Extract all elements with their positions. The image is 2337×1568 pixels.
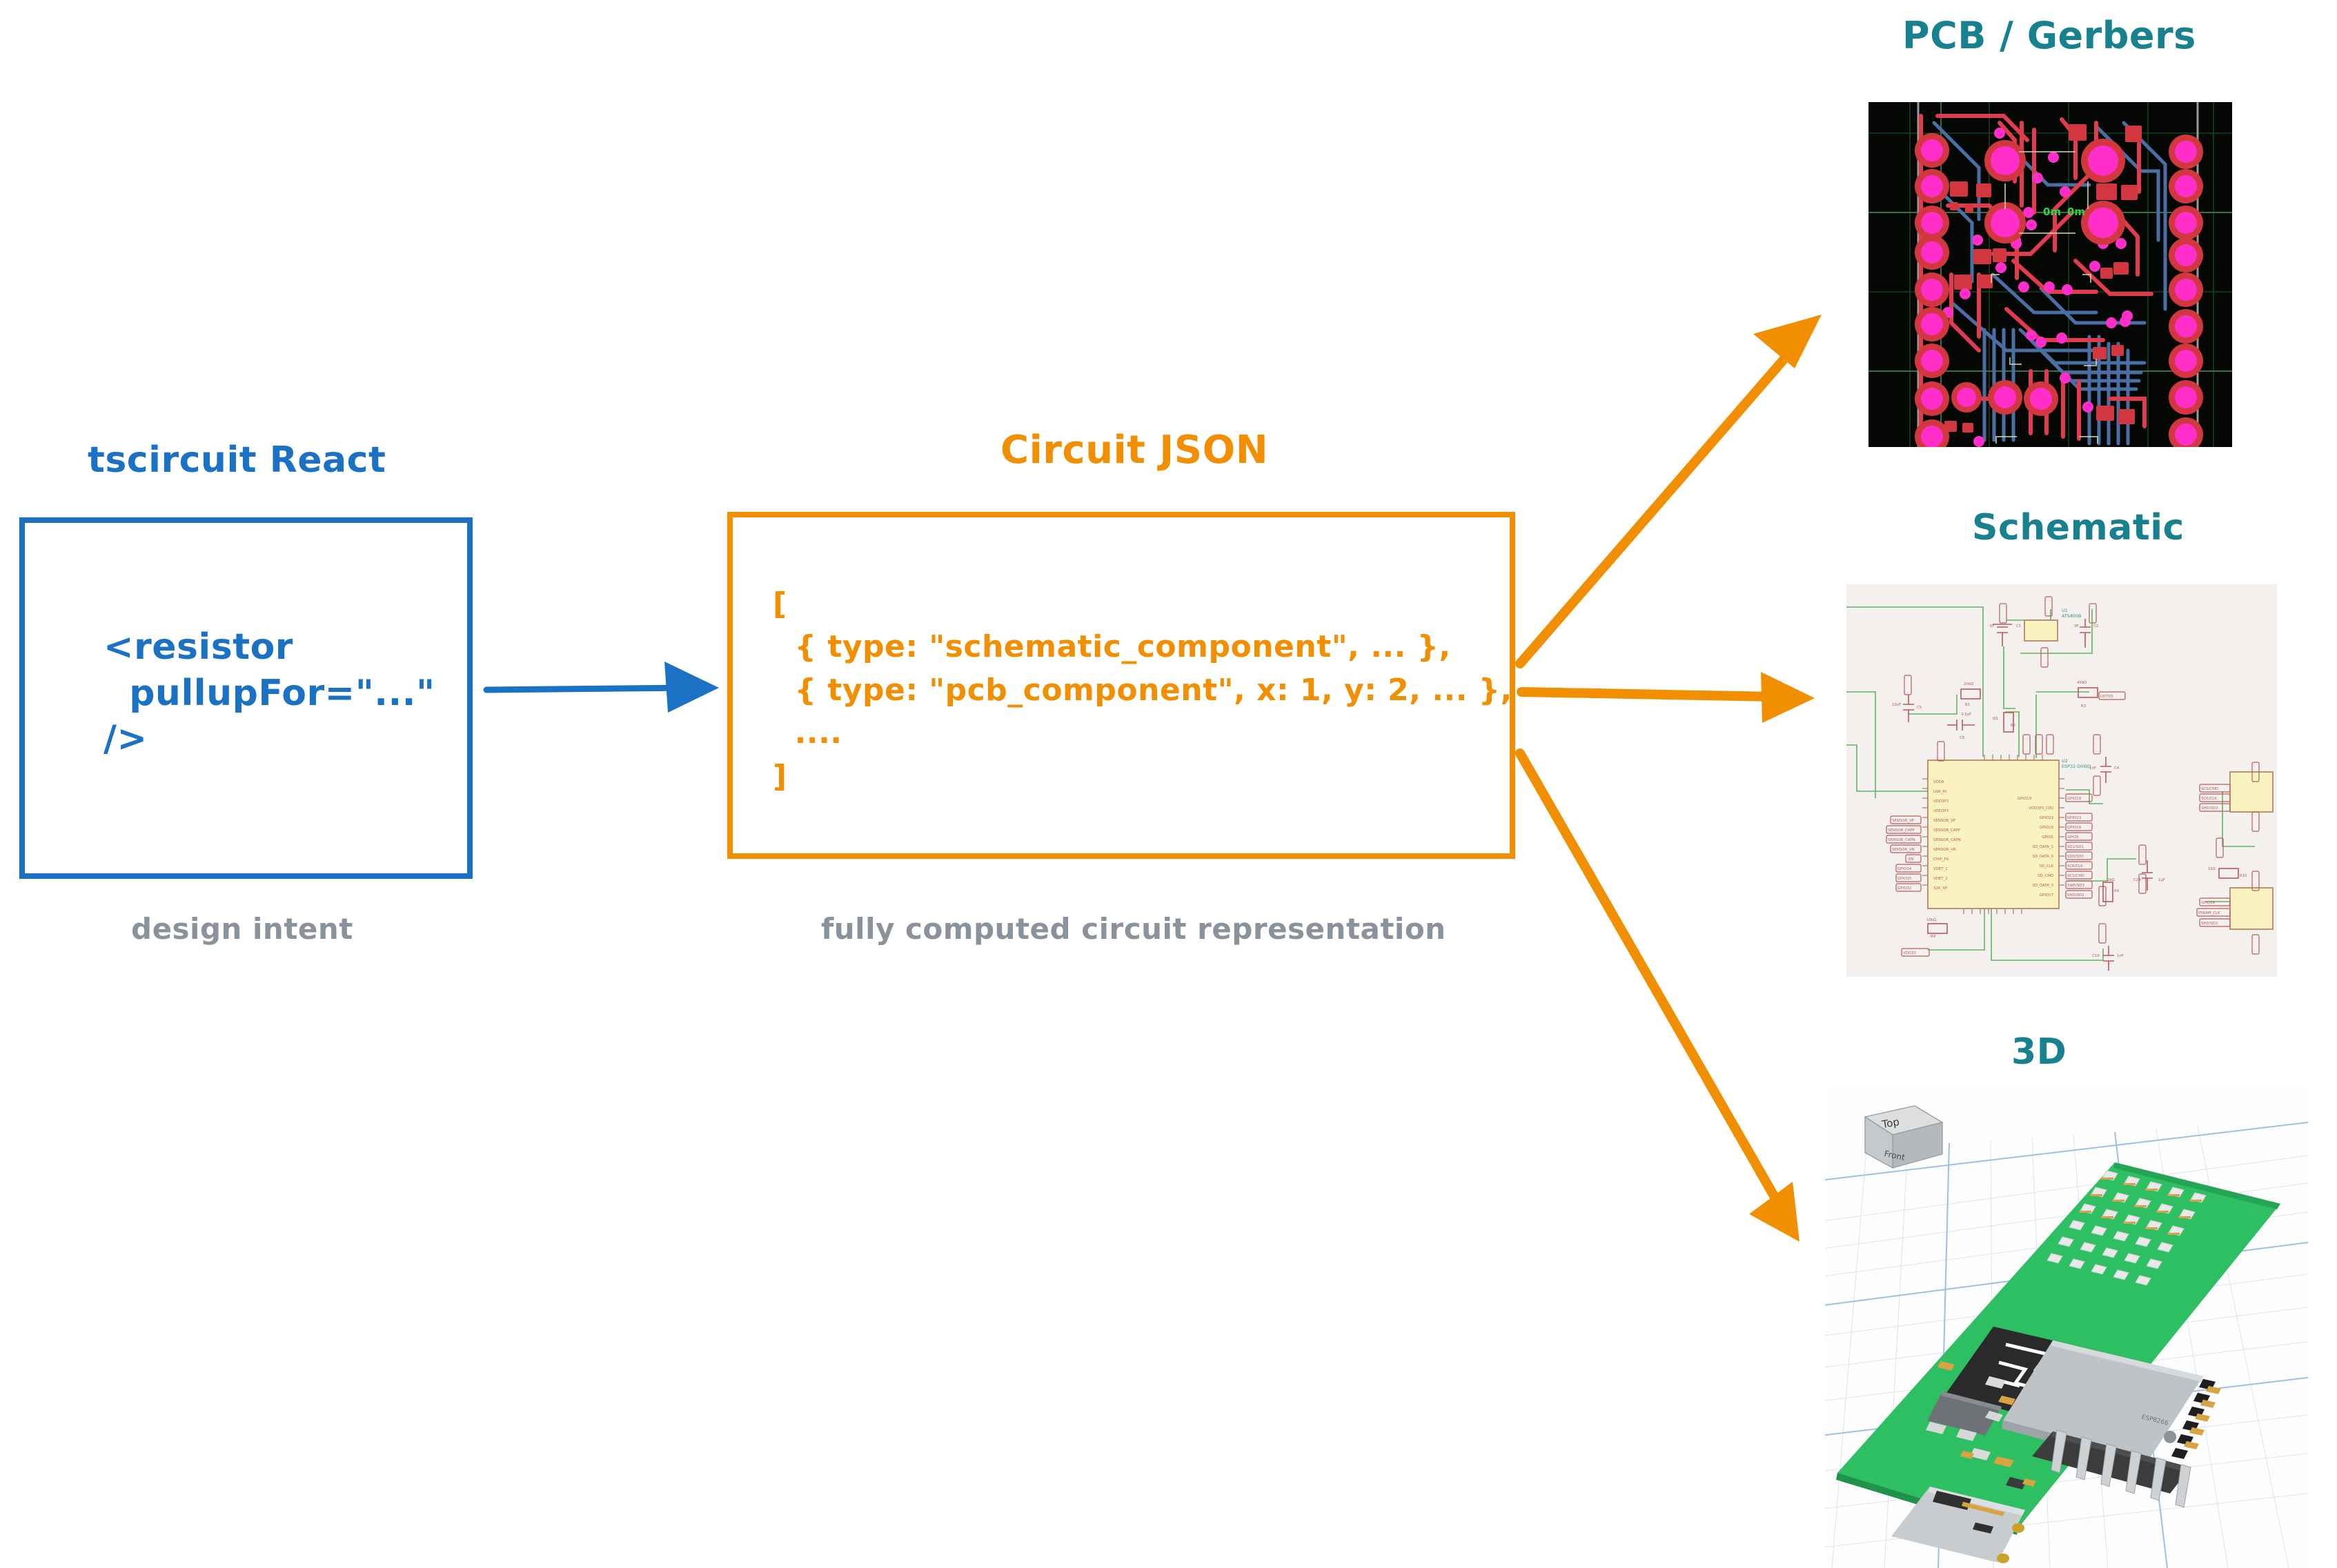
svg-text:VDET_2: VDET_2 — [1933, 877, 1948, 881]
svg-text:U2: U2 — [2062, 758, 2068, 764]
stage-title-tscircuit-react: tscircuit React — [88, 439, 386, 481]
svg-text:SHD/SD2: SHD/SD2 — [2201, 922, 2218, 926]
svg-text:32K_XP: 32K_XP — [1933, 886, 1948, 891]
svg-text:0F: 0F — [1990, 624, 1995, 628]
svg-text:ESP32-D0WD: ESP32-D0WD — [2062, 764, 2091, 769]
svg-text:C5: C5 — [1917, 706, 1922, 710]
svg-text:2kΩ: 2kΩ — [2107, 878, 2115, 882]
svg-text:VDDA: VDDA — [1933, 780, 1944, 784]
output-title-schematic: Schematic — [1972, 507, 2185, 548]
svg-text:GPIO32: GPIO32 — [1897, 886, 1911, 891]
svg-text:SENSOR_VP: SENSOR_VP — [1933, 819, 1956, 823]
svg-text:SD0/SD0: SD0/SD0 — [2067, 855, 2084, 859]
svg-text:0F: 0F — [2074, 624, 2079, 628]
svg-text:R4: R4 — [2114, 889, 2120, 893]
svg-text:CHIP_PU: CHIP_PU — [1933, 857, 1949, 862]
arrow-react-to-json — [486, 662, 719, 713]
svg-text:SCK/CLK: SCK/CLK — [2201, 797, 2217, 801]
svg-text:SENSOR_CAPN: SENSOR_CAPN — [1933, 838, 1961, 842]
svg-text:GPIO14: GPIO14 — [2201, 901, 2216, 905]
svg-text:R10: R10 — [2240, 874, 2247, 878]
svg-text:1µF: 1µF — [2158, 878, 2165, 882]
three-d-preview[interactable]: ESP8266 — [1825, 1086, 2308, 1568]
svg-text:EN: EN — [1909, 857, 1913, 862]
svg-text:C1: C1 — [2016, 624, 2021, 628]
svg-text:C24: C24 — [2133, 878, 2141, 882]
svg-text:U1: U1 — [2062, 608, 2068, 613]
svg-text:VDD3P3: VDD3P3 — [1933, 800, 1949, 804]
svg-text:VDET_1: VDET_1 — [1933, 867, 1948, 871]
svg-text:R2: R2 — [2011, 724, 2015, 728]
svg-text:GPIO19: GPIO19 — [2018, 797, 2032, 801]
svg-text:SHD/SD2: SHD/SD2 — [2201, 806, 2218, 811]
svg-text:VDD3P3_CPU: VDD3P3_CPU — [2029, 806, 2053, 811]
svg-text:R9: R9 — [1931, 935, 1936, 939]
svg-text:SD_DATA_0: SD_DATA_0 — [2033, 855, 2054, 859]
svg-text:SCS/CMD: SCS/CMD — [2067, 874, 2084, 878]
svg-text:10nF: 10nF — [1892, 703, 1901, 707]
svg-text:GPIO23: GPIO23 — [2040, 816, 2053, 820]
svg-text:GPIO17: GPIO17 — [2040, 893, 2053, 897]
svg-text:SENSOR_VN: SENSOR_VN — [1892, 848, 1915, 852]
svg-text:GPIO5: GPIO5 — [2042, 835, 2053, 840]
svg-text:LNA_IN: LNA_IN — [1933, 790, 1946, 794]
svg-text:GPIO18: GPIO18 — [2067, 826, 2082, 830]
svg-text:SENSOR_CAPP: SENSOR_CAPP — [1933, 828, 1961, 833]
svg-text:PSRAM_CLK: PSRAM_CLK — [2198, 911, 2220, 915]
svg-text:SD_CLK: SD_CLK — [2039, 864, 2053, 869]
circuit-json-snippet: [ { type: "schematic_component", ... }, … — [773, 583, 1512, 798]
svg-text:1kΩ: 1kΩ — [2208, 867, 2216, 871]
svg-text:VDD33: VDD33 — [1903, 951, 1916, 955]
svg-text:499Ω: 499Ω — [2077, 681, 2087, 685]
svg-text:SENSOR_VP: SENSOR_VP — [1892, 819, 1915, 823]
svg-text:0m: 0m — [2043, 206, 2061, 218]
svg-text:SD_DATA_1: SD_DATA_1 — [2033, 845, 2053, 849]
svg-text:C2: C2 — [2093, 624, 2098, 628]
svg-text:SD1/SD1: SD1/SD1 — [2067, 845, 2084, 849]
svg-text:SD_CMD: SD_CMD — [2038, 874, 2053, 878]
caption-design-intent: design intent — [131, 912, 353, 946]
svg-text:0m: 0m — [2067, 206, 2085, 218]
svg-text:SENSOR_VN: SENSOR_VN — [1933, 848, 1956, 852]
svg-text:3.3nF: 3.3nF — [1961, 713, 1971, 717]
svg-text:SCS/CMD: SCS/CMD — [2201, 787, 2218, 791]
svg-text:10kΩ: 10kΩ — [1926, 918, 1936, 922]
svg-text:C6: C6 — [1960, 736, 1965, 740]
svg-text:GPIO35: GPIO35 — [1897, 877, 1911, 881]
svg-text:SHD/SD2: SHD/SD2 — [2067, 893, 2084, 897]
svg-text:SENSOR_CAPN: SENSOR_CAPN — [1888, 838, 1915, 842]
svg-text:20kΩ: 20kΩ — [1964, 682, 1973, 686]
svg-text:ATS400B: ATS400B — [2062, 613, 2081, 619]
svg-text:SENSOR_CAPP: SENSOR_CAPP — [1888, 828, 1915, 833]
svg-text:R1: R1 — [1965, 703, 1970, 707]
pcb-gerbers-preview[interactable]: 0m 0m — [1868, 102, 2232, 447]
react-code-snippet: <resistor pullupFor="..." /> — [103, 624, 435, 762]
arrow-json-to-schematic — [1521, 672, 1815, 723]
stage-title-circuit-json: Circuit JSON — [1000, 428, 1268, 473]
svg-text:GPIO34: GPIO34 — [1897, 867, 1912, 871]
svg-text:C19: C19 — [2092, 954, 2100, 958]
svg-text:SCK/CLK: SCK/CLK — [2067, 864, 2083, 869]
svg-text:GPIO19: GPIO19 — [2067, 797, 2082, 801]
svg-text:VDD3P3: VDD3P3 — [1933, 809, 1949, 813]
svg-text:R3: R3 — [2081, 704, 2086, 708]
svg-text:SWP/SD3: SWP/SD3 — [2067, 884, 2084, 888]
svg-text:SD_DATA_3: SD_DATA_3 — [2033, 884, 2053, 888]
caption-fully-computed: fully computed circuit representation — [821, 912, 1446, 946]
svg-text:GPIO18: GPIO18 — [2040, 826, 2054, 830]
arrow-json-to-3d — [1520, 753, 1799, 1242]
output-title-pcb-gerbers: PCB / Gerbers — [1902, 14, 2196, 57]
svg-text:GPIO23: GPIO23 — [2067, 816, 2081, 820]
arrow-json-to-pcb — [1520, 315, 1822, 664]
output-title-3d: 3D — [2011, 1031, 2067, 1073]
svg-text:C4: C4 — [2114, 766, 2120, 771]
schematic-preview[interactable]: 0FC1 0FC2 10nFC5 20kΩR1 3.3nFC6 0ΩR2 499… — [1846, 584, 2277, 977]
svg-text:U0TXD: U0TXD — [2100, 695, 2113, 699]
svg-text:1nF: 1nF — [2117, 954, 2124, 958]
svg-text:GPIO5: GPIO5 — [2067, 835, 2079, 840]
svg-text:0Ω: 0Ω — [1993, 717, 1998, 721]
